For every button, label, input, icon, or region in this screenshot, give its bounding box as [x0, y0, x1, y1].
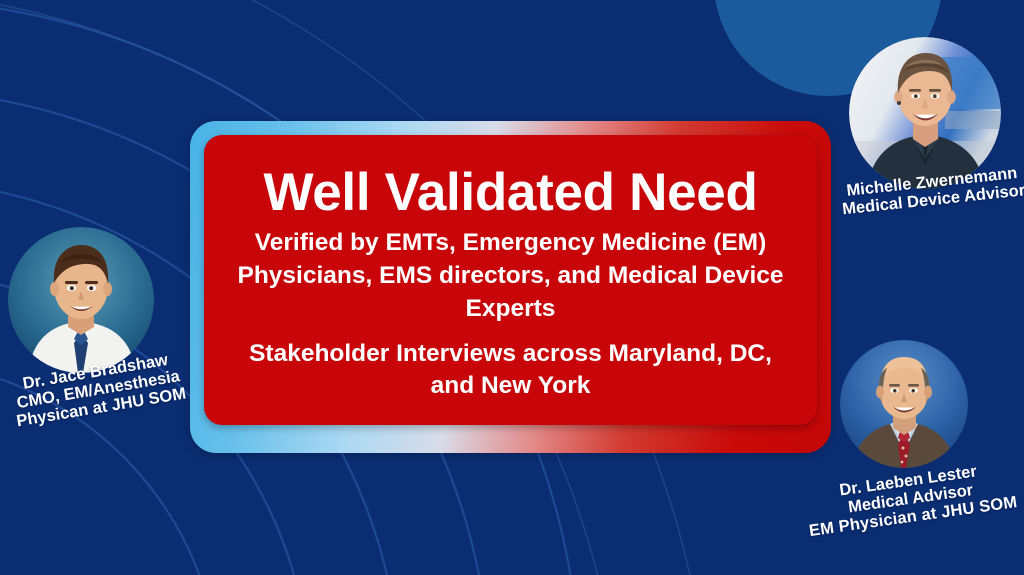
callout-panel: Well Validated Need Verified by EMTs, Em…	[204, 135, 817, 425]
portrait-laeben-lester	[840, 340, 968, 468]
callout-paragraph-2: Stakeholder Interviews across Maryland, …	[231, 338, 791, 404]
avatar	[8, 227, 154, 373]
slide-root: Well Validated Need Verified by EMTs, Em…	[0, 0, 1024, 575]
page-title: Well Validated Need	[263, 165, 757, 221]
avatar	[849, 37, 1001, 189]
avatar	[840, 340, 968, 468]
portrait-jace-bradshaw	[8, 227, 156, 375]
callout-frame: Well Validated Need Verified by EMTs, Em…	[190, 121, 831, 453]
portrait-michelle-zwernemann	[849, 37, 1001, 189]
callout-paragraph-1: Verified by EMTs, Emergency Medicine (EM…	[231, 227, 791, 325]
